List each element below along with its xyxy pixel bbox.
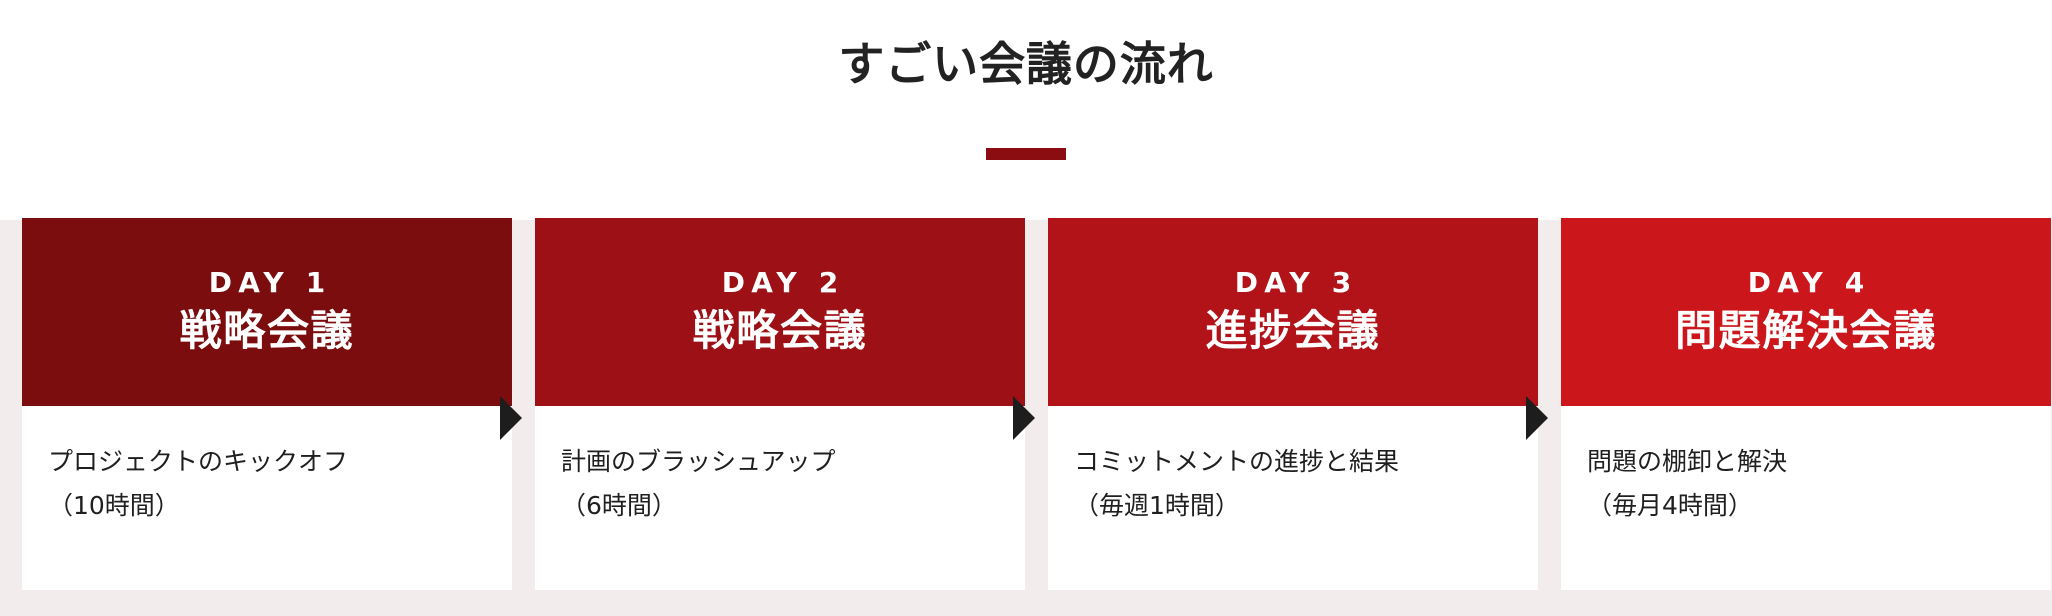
- flow-card-day3[interactable]: DAY 3 進捗会議 コミットメントの進捗と結果 （毎週1時間）: [1048, 218, 1538, 590]
- card-description-line-1: 計画のブラッシュアップ: [561, 440, 999, 484]
- card-description-line-1: プロジェクトのキックオフ: [48, 440, 486, 484]
- card-description-line-2: （毎週1時間）: [1074, 484, 1512, 528]
- day-title: 戦略会議: [693, 307, 868, 355]
- page-title: すごい会議の流れ: [0, 0, 2052, 94]
- flow-card-day1[interactable]: DAY 1 戦略会議 プロジェクトのキックオフ （10時間）: [22, 218, 512, 590]
- flow-card-body-day3: コミットメントの進捗と結果 （毎週1時間）: [1048, 406, 1538, 590]
- day-label: DAY 2: [716, 268, 845, 299]
- day-label: DAY 3: [1229, 268, 1358, 299]
- diagram-header: すごい会議の流れ: [0, 0, 2052, 200]
- flow-card-header-day2: DAY 2 戦略会議: [535, 218, 1025, 406]
- flow-card-day4[interactable]: DAY 4 問題解決会議 問題の棚卸と解決 （毎月4時間）: [1561, 218, 2051, 590]
- day-label: DAY 1: [203, 268, 332, 299]
- flow-card-body-day1: プロジェクトのキックオフ （10時間）: [22, 406, 512, 590]
- card-description-line-1: コミットメントの進捗と結果: [1074, 440, 1512, 484]
- day-title: 戦略会議: [180, 307, 355, 355]
- flow-card-day2[interactable]: DAY 2 戦略会議 計画のブラッシュアップ （6時間）: [535, 218, 1025, 590]
- triangle-right-icon: [1526, 396, 1548, 440]
- flow-card-header-day3: DAY 3 進捗会議: [1048, 218, 1538, 406]
- flow-card-body-day4: 問題の棚卸と解決 （毎月4時間）: [1561, 406, 2051, 590]
- day-label: DAY 4: [1742, 268, 1871, 299]
- flow-card-body-day2: 計画のブラッシュアップ （6時間）: [535, 406, 1025, 590]
- day-title: 問題解決会議: [1675, 307, 1937, 355]
- card-description-line-2: （10時間）: [48, 484, 486, 528]
- card-description-line-1: 問題の棚卸と解決: [1587, 440, 2025, 484]
- card-description-line-2: （6時間）: [561, 484, 999, 528]
- flow-diagram-canvas: すごい会議の流れ DAY 1 戦略会議 プロジェクトのキックオフ （10時間） …: [0, 0, 2052, 616]
- triangle-right-icon: [1013, 396, 1035, 440]
- flow-card-header-day1: DAY 1 戦略会議: [22, 218, 512, 406]
- triangle-right-icon: [500, 396, 522, 440]
- flow-card-row: DAY 1 戦略会議 プロジェクトのキックオフ （10時間） DAY 2 戦略会…: [0, 218, 2052, 598]
- day-title: 進捗会議: [1206, 307, 1381, 355]
- title-underline-rule: [986, 148, 1066, 160]
- card-description-line-2: （毎月4時間）: [1587, 484, 2025, 528]
- flow-card-header-day4: DAY 4 問題解決会議: [1561, 218, 2051, 406]
